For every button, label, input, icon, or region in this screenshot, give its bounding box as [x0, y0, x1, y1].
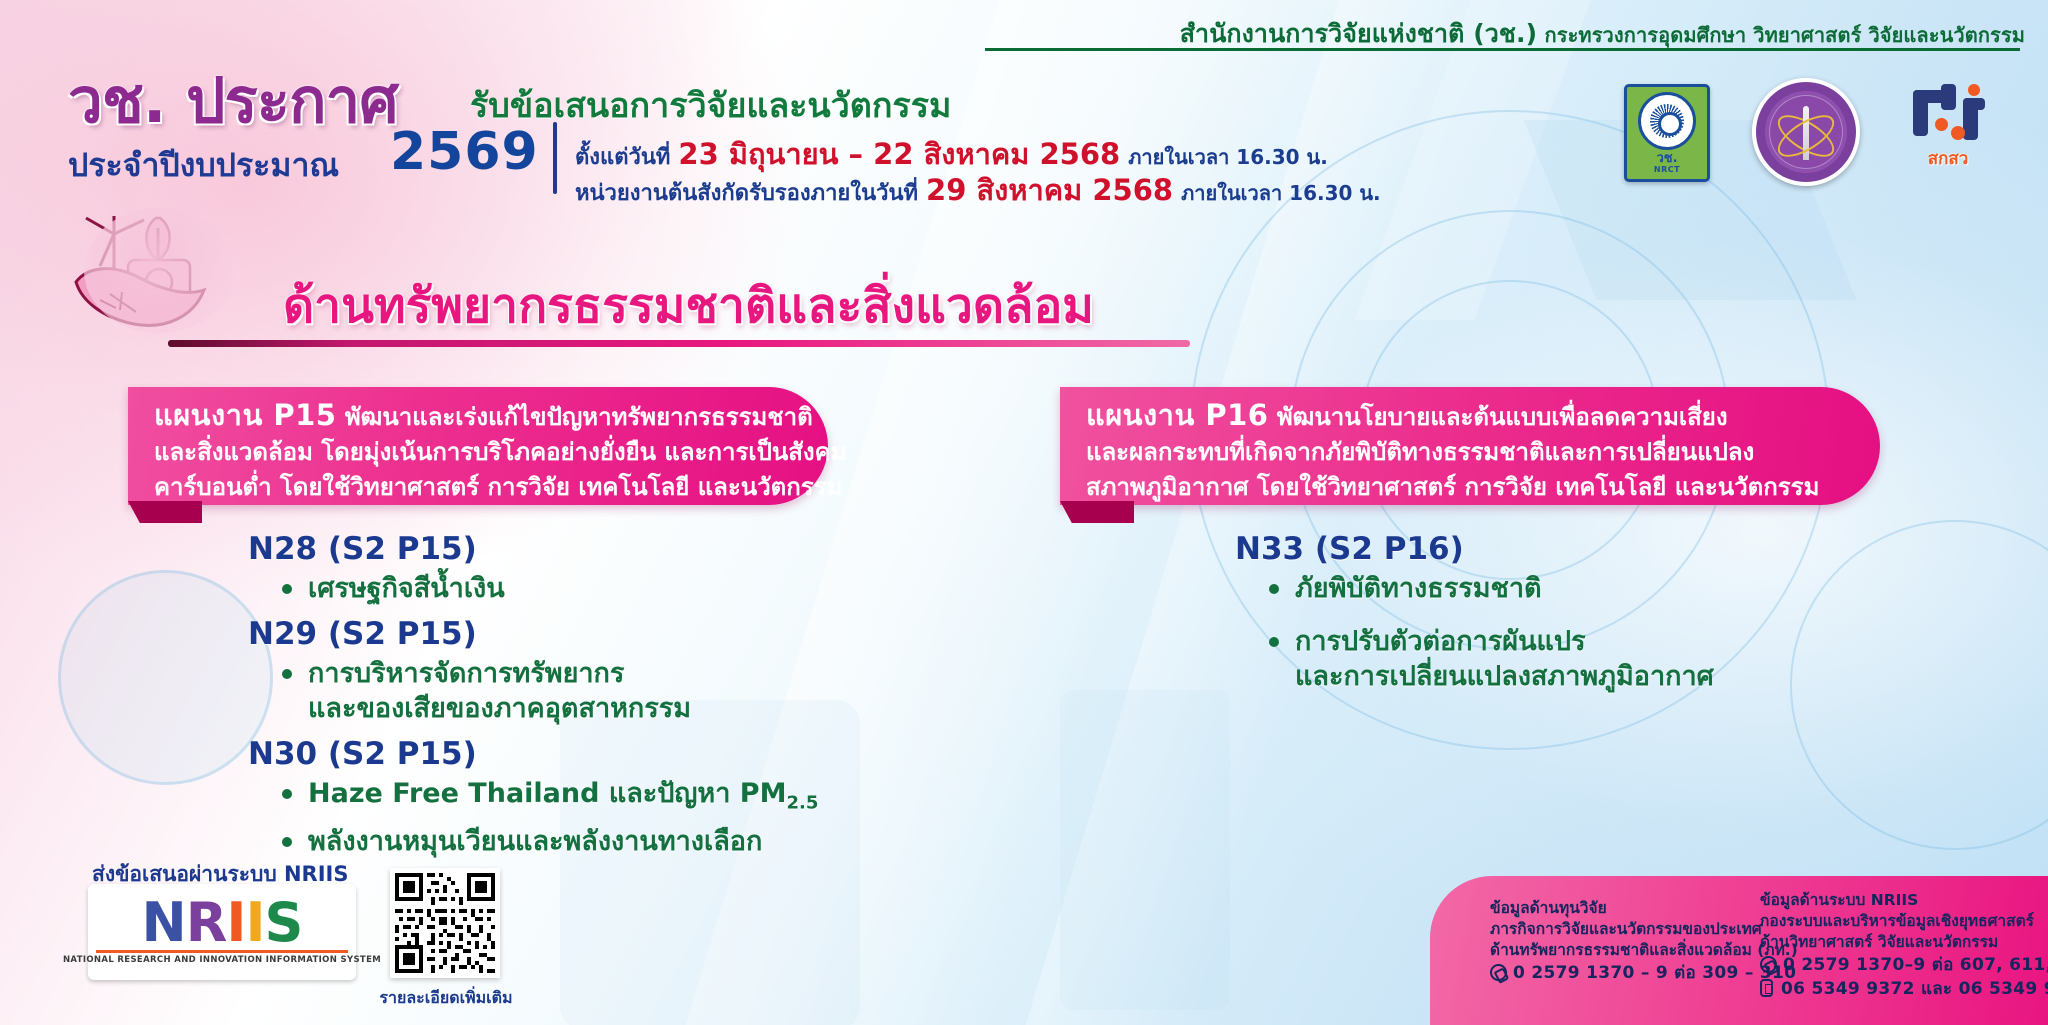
program-list-left: N28 (S2 P15) เศรษฐกิจสีน้ำเงิน N29 (S2 P…	[248, 525, 948, 869]
contact-system: ข้อมูลด้านระบบ NRIIS กองระบบและบริหารข้อ…	[1760, 890, 2048, 1000]
nrct-abbr-label: วช.	[1656, 152, 1677, 165]
system-title: ข้อมูลด้านระบบ NRIIS	[1760, 890, 2048, 911]
item-text: Haze Free Thailand และปัญหา PM	[308, 778, 786, 809]
list-item: ภัยพิบัติทางธรรมชาติ	[1295, 571, 1935, 606]
mhesi-atom-icon	[1769, 95, 1843, 169]
phone-icon	[1760, 956, 1777, 973]
background-bar-4	[1060, 690, 1230, 1010]
funding-dept-2: ด้านทรัพยากรธรรมชาติและสิ่งแวดล้อม (ภท.)	[1490, 940, 1798, 961]
p16-text-1: พัฒนานโยบายและต้นแบบเพื่อลดความเสี่ยง	[1277, 403, 1728, 431]
environment-emblem-icon	[70, 208, 250, 338]
fiscal-year-label: ประจำปีงบประมาณ	[68, 140, 339, 191]
group-code-n33: N33 (S2 P16)	[1235, 531, 1935, 567]
banner-tail-p15	[128, 501, 202, 523]
phone-icon	[1490, 964, 1507, 981]
system-dept-1: กองระบบและบริหารข้อมูลเชิงยุทธศาสตร์	[1760, 911, 2048, 932]
funding-phone: 0 2579 1370 – 9 ต่อ 309 – 310	[1490, 961, 1798, 984]
qr-caption: รายละเอียดเพิ่มเติม	[378, 986, 514, 1011]
item-text-cont: และการเปลี่ยนแปลงสภาพภูมิอากาศ	[1295, 659, 1935, 694]
item-text: ภัยพิบัติทางธรรมชาติ	[1295, 573, 1542, 604]
mobile-icon	[1760, 979, 1773, 997]
headline-divider	[553, 122, 557, 194]
program-banner-p15: แผนงาน P15 พัฒนาและเร่งแก้ไขปัญหาทรัพยาก…	[128, 387, 828, 505]
nrct-en-label: NRCT	[1654, 165, 1680, 174]
group-items-n30: Haze Free Thailand และปัญหา PM2.5 พลังงา…	[308, 776, 948, 859]
headline-subtitle: รับข้อเสนอการวิจัยและนวัตกรรม	[470, 78, 951, 132]
background-globe	[58, 570, 273, 785]
mhesi-trident-icon	[1803, 106, 1809, 160]
list-item: พลังงานหมุนเวียนและพลังงานทางเลือก	[308, 824, 948, 859]
list-item: การบริหารจัดการทรัพยากร และของเสียของภาค…	[308, 656, 948, 726]
item-text-cont: และของเสียของภาคอุตสาหกรรม	[308, 691, 948, 726]
mhesi-logo	[1752, 78, 1860, 186]
nriis-tagline: NATIONAL RESEARCH AND INNOVATION INFORMA…	[63, 955, 381, 965]
item-subscript: 2.5	[786, 792, 818, 813]
qr-code-icon[interactable]	[395, 873, 495, 973]
agency-name: สำนักงานการวิจัยแห่งชาติ (วช.)	[1180, 19, 1537, 48]
system-phone-number: 0 2579 1370–9 ต่อ 607, 611, 612, 619	[1783, 955, 2048, 975]
banner-tail-p16	[1060, 501, 1134, 523]
program-banner-p16: แผนงาน P16 พัฒนานโยบายและต้นแบบเพื่อลดคว…	[1060, 387, 1880, 505]
p15-line-1: แผนงาน P15 พัฒนาและเร่งแก้ไขปัญหาทรัพยาก…	[154, 398, 758, 435]
endorsement-suffix: ภายในเวลา 16.30 น.	[1181, 181, 1381, 205]
p16-line-2: และผลกระทบที่เกิดจากภัยพิบัติทางธรรมชาติ…	[1086, 435, 1810, 470]
nriis-rule	[96, 950, 348, 953]
period-range: 23 มิถุนายน – 22 สิงหาคม 2568	[678, 137, 1120, 171]
group-items-n33: ภัยพิบัติทางธรรมชาติ การปรับตัวต่อการผัน…	[1295, 571, 1935, 694]
p16-line-3: สภาพภูมิอากาศ โดยใช้วิทยาศาสตร์ การวิจัย…	[1086, 470, 1810, 505]
list-item: เศรษฐกิจสีน้ำเงิน	[308, 571, 948, 606]
tsri-mark-icon	[1911, 84, 1985, 142]
nriis-logo: NRIIS NATIONAL RESEARCH AND INNOVATION I…	[88, 884, 356, 980]
system-mobile: 06 5349 9372 และ 06 5349 9382	[1760, 976, 2048, 1000]
p16-code: แผนงาน P16	[1086, 398, 1268, 432]
funding-phone-number: 0 2579 1370 – 9 ต่อ 309 – 310	[1513, 963, 1796, 983]
endorsement-prefix: หน่วยงานต้นสังกัดรับรองภายในวันที่	[575, 181, 918, 206]
contact-panel: ข้อมูลด้านทุนวิจัย ภารกิจการวิจัยและนวัต…	[1430, 876, 2048, 1025]
qr-code[interactable]	[390, 868, 500, 978]
topic-title: ด้านทรัพยากรธรรมชาติและสิ่งแวดล้อม	[283, 268, 1094, 344]
header-divider	[985, 48, 2020, 51]
group-items-n28: เศรษฐกิจสีน้ำเงิน	[308, 571, 948, 606]
item-text: การบริหารจัดการทรัพยากร	[308, 658, 624, 689]
p16-line-1: แผนงาน P16 พัฒนานโยบายและต้นแบบเพื่อลดคว…	[1086, 398, 1810, 435]
contact-funding: ข้อมูลด้านทุนวิจัย ภารกิจการวิจัยและนวัต…	[1490, 898, 1798, 984]
title-underline	[168, 340, 1190, 347]
ministry-name: กระทรวงการอุดมศึกษา วิทยาศาสตร์ วิจัยและ…	[1545, 23, 2025, 47]
nriis-wordmark: NRIIS	[142, 897, 303, 948]
funding-dept-1: ภารกิจการวิจัยและนวัตกรรมของประเทศ	[1490, 919, 1798, 940]
tsri-logo: สกสว	[1900, 82, 1996, 174]
group-code-n28: N28 (S2 P15)	[248, 531, 948, 567]
poster-canvas: สำนักงานการวิจัยแห่งชาติ (วช.) กระทรวงกา…	[0, 0, 2048, 1025]
funding-title: ข้อมูลด้านทุนวิจัย	[1490, 898, 1798, 919]
endorsement-date: 29 สิงหาคม 2568	[926, 173, 1173, 207]
item-text: การปรับตัวต่อการผันแปร	[1295, 626, 1586, 657]
item-text: เศรษฐกิจสีน้ำเงิน	[308, 573, 505, 604]
group-code-n29: N29 (S2 P15)	[248, 616, 948, 652]
group-items-n29: การบริหารจัดการทรัพยากร และของเสียของภาค…	[308, 656, 948, 726]
p15-text-1: พัฒนาและเร่งแก้ไขปัญหาทรัพยากรธรรมชาติ	[345, 403, 813, 431]
fiscal-year-value: 2569	[390, 122, 539, 182]
p15-line-3: คาร์บอนต่ำ โดยใช้วิทยาศาสตร์ การวิจัย เท…	[154, 470, 758, 505]
group-code-n30: N30 (S2 P15)	[248, 736, 948, 772]
list-item: การปรับตัวต่อการผันแปร และการเปลี่ยนแปลง…	[1295, 624, 1935, 694]
nrct-logo: วช. NRCT	[1624, 84, 1710, 182]
program-list-right: N33 (S2 P16) ภัยพิบัติทางธรรมชาติ การปรั…	[1235, 525, 1935, 704]
p15-code: แผนงาน P15	[154, 398, 336, 432]
page-title: วช. ประกาศ	[68, 52, 398, 150]
system-mobile-number: 06 5349 9372 และ 06 5349 9382	[1781, 979, 2048, 999]
p15-line-2: และสิ่งแวดล้อม โดยมุ่งเน้นการบริโภคอย่าง…	[154, 435, 758, 470]
nrct-emblem-icon	[1638, 92, 1696, 150]
list-item: Haze Free Thailand และปัญหา PM2.5	[308, 776, 948, 820]
system-dept-2: ด้านวิทยาศาสตร์ วิจัยและนวัตกรรม	[1760, 932, 2048, 953]
period-suffix: ภายในเวลา 16.30 น.	[1128, 145, 1328, 169]
item-text: พลังงานหมุนเวียนและพลังงานทางเลือก	[308, 826, 762, 857]
system-phone: 0 2579 1370–9 ต่อ 607, 611, 612, 619	[1760, 953, 2048, 976]
tsri-word-label: สกสว	[1928, 145, 1969, 172]
endorsement-deadline: หน่วยงานต้นสังกัดรับรองภายในวันที่ 29 สิ…	[575, 167, 1381, 213]
